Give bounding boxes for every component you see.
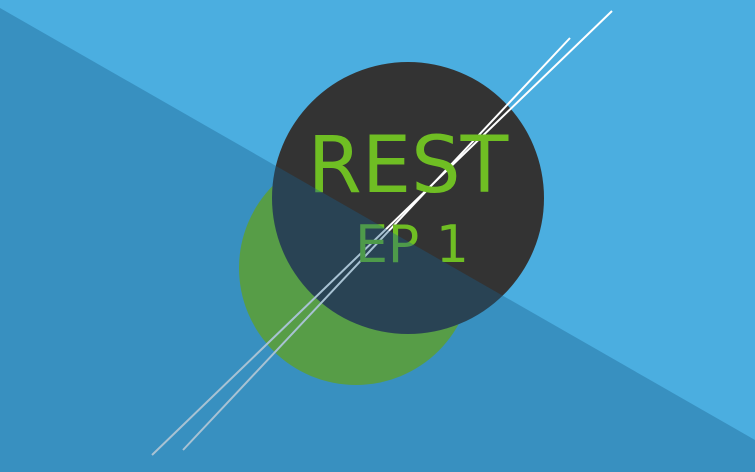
title-card-artwork: REST EP 1 <box>0 0 755 472</box>
main-title: REST <box>308 121 509 211</box>
title-card-canvas: REST EP 1 REST EP 1 <box>0 0 755 472</box>
